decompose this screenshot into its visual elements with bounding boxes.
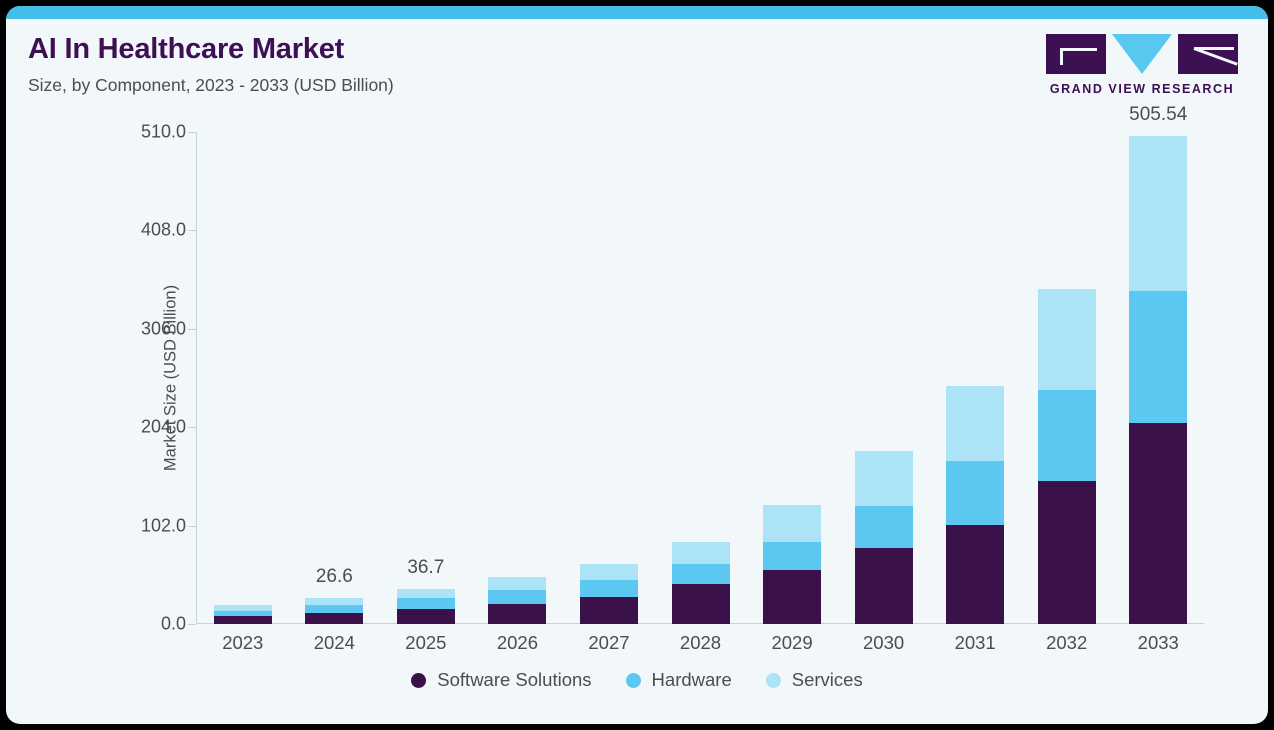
bar-slot-2030[interactable]: 2030 — [838, 132, 930, 624]
logo-wordmark: GRAND VIEW RESEARCH — [1046, 82, 1238, 96]
chart-frame: AI In Healthcare Market Size, by Compone… — [0, 0, 1274, 730]
bar-segment-hardware[interactable] — [305, 605, 363, 613]
logo-letter-r-icon — [1178, 34, 1238, 74]
y-axis-tick — [188, 329, 196, 330]
bar-slot-2024[interactable]: 26.62024 — [289, 132, 381, 624]
y-axis-tick-label: 102.0 — [141, 515, 186, 536]
y-axis-tick-label: 408.0 — [141, 220, 186, 241]
chart-card: AI In Healthcare Market Size, by Compone… — [6, 6, 1268, 724]
bar-segment-hardware[interactable] — [397, 598, 455, 609]
bar-segment-software[interactable] — [763, 570, 821, 625]
legend-swatch-icon — [626, 673, 641, 688]
x-axis-tick-label: 2031 — [955, 632, 996, 654]
accent-top-bar — [6, 6, 1268, 19]
bar-segment-hardware[interactable] — [1129, 291, 1187, 424]
bar-stack[interactable] — [397, 589, 455, 624]
bar-segment-software[interactable] — [397, 609, 455, 624]
chart-subtitle: Size, by Component, 2023 - 2033 (USD Bil… — [28, 75, 394, 96]
bar-segment-software[interactable] — [1038, 481, 1096, 624]
x-axis-tick-label: 2025 — [405, 632, 446, 654]
legend-label: Services — [792, 669, 863, 691]
bar-value-label: 26.6 — [316, 566, 353, 588]
y-axis-tick — [188, 230, 196, 231]
bar-stack[interactable] — [580, 564, 638, 624]
bar-segment-services[interactable] — [946, 386, 1004, 461]
y-axis-tick-label: 510.0 — [141, 122, 186, 143]
bar-segment-hardware[interactable] — [855, 506, 913, 547]
legend-label: Hardware — [652, 669, 732, 691]
x-axis-tick-label: 2029 — [771, 632, 812, 654]
bar-group: 202326.6202436.7202520262027202820292030… — [197, 132, 1204, 624]
bar-segment-software[interactable] — [672, 584, 730, 624]
bar-slot-2026[interactable]: 2026 — [472, 132, 564, 624]
bar-slot-2025[interactable]: 36.72025 — [380, 132, 472, 624]
bar-stack[interactable] — [305, 598, 363, 624]
x-axis-tick-label: 2027 — [588, 632, 629, 654]
bar-segment-services[interactable] — [580, 564, 638, 580]
y-axis-tick — [188, 624, 196, 625]
bar-segment-software[interactable] — [214, 616, 272, 624]
bar-slot-2023[interactable]: 2023 — [197, 132, 289, 624]
brand-logo: GRAND VIEW RESEARCH — [1046, 34, 1238, 96]
bar-segment-software[interactable] — [580, 597, 638, 624]
y-axis-tick-label: 204.0 — [141, 417, 186, 438]
legend-item[interactable]: Software Solutions — [411, 669, 591, 691]
bar-slot-2027[interactable]: 2027 — [563, 132, 655, 624]
bar-segment-services[interactable] — [855, 451, 913, 506]
bar-slot-2029[interactable]: 2029 — [746, 132, 838, 624]
y-axis-tick-label: 0.0 — [161, 614, 186, 635]
y-axis-tick-label: 306.0 — [141, 318, 186, 339]
bar-slot-2032[interactable]: 2032 — [1021, 132, 1113, 624]
page-title: AI In Healthcare Market — [28, 34, 394, 66]
bar-stack[interactable] — [488, 577, 546, 624]
bar-stack[interactable] — [1129, 136, 1187, 624]
bar-segment-hardware[interactable] — [672, 564, 730, 585]
bar-stack[interactable] — [855, 451, 913, 624]
bar-segment-services[interactable] — [672, 542, 730, 564]
bar-slot-2033[interactable]: 505.542033 — [1112, 132, 1204, 624]
x-axis-tick-label: 2026 — [497, 632, 538, 654]
legend-swatch-icon — [411, 673, 426, 688]
bar-segment-services[interactable] — [305, 598, 363, 605]
legend-item[interactable]: Services — [766, 669, 863, 691]
legend-swatch-icon — [766, 673, 781, 688]
bar-value-label: 505.54 — [1129, 104, 1187, 126]
bar-slot-2031[interactable]: 2031 — [929, 132, 1021, 624]
x-axis-tick-label: 2033 — [1138, 632, 1179, 654]
bar-segment-services[interactable] — [488, 577, 546, 590]
logo-letter-g-icon — [1046, 34, 1106, 74]
y-axis-title: Market Size (USD Billion) — [162, 285, 181, 471]
bar-segment-hardware[interactable] — [1038, 390, 1096, 481]
plot-area: Market Size (USD Billion) 0.0102.0204.03… — [196, 132, 1204, 624]
x-axis-tick-label: 2023 — [222, 632, 263, 654]
bar-segment-services[interactable] — [763, 505, 821, 542]
y-axis-tick — [188, 427, 196, 428]
logo-letter-v-icon — [1112, 34, 1172, 74]
bar-stack[interactable] — [672, 542, 730, 624]
bar-segment-services[interactable] — [1038, 289, 1096, 390]
logo-marks — [1046, 34, 1238, 74]
bar-segment-services[interactable] — [1129, 136, 1187, 290]
bar-stack[interactable] — [946, 386, 1004, 624]
bar-segment-software[interactable] — [946, 525, 1004, 624]
bar-segment-hardware[interactable] — [488, 590, 546, 604]
chart-header: AI In Healthcare Market Size, by Compone… — [28, 34, 394, 96]
x-axis-tick-label: 2032 — [1046, 632, 1087, 654]
bar-segment-software[interactable] — [855, 548, 913, 624]
bar-segment-software[interactable] — [488, 604, 546, 624]
y-axis-tick — [188, 526, 196, 527]
x-axis-tick-label: 2028 — [680, 632, 721, 654]
legend-item[interactable]: Hardware — [626, 669, 732, 691]
bar-segment-hardware[interactable] — [580, 580, 638, 597]
bar-segment-services[interactable] — [397, 589, 455, 599]
legend-label: Software Solutions — [437, 669, 591, 691]
bar-segment-software[interactable] — [305, 613, 363, 624]
bar-stack[interactable] — [763, 505, 821, 624]
bar-value-label: 36.7 — [407, 557, 444, 579]
bar-stack[interactable] — [214, 605, 272, 624]
x-axis-tick-label: 2024 — [314, 632, 355, 654]
chart-legend: Software SolutionsHardwareServices — [6, 669, 1268, 691]
bar-slot-2028[interactable]: 2028 — [655, 132, 747, 624]
bar-segment-hardware[interactable] — [763, 542, 821, 570]
bar-segment-hardware[interactable] — [946, 461, 1004, 525]
x-axis-tick-label: 2030 — [863, 632, 904, 654]
bar-segment-software[interactable] — [1129, 423, 1187, 624]
bar-stack[interactable] — [1038, 289, 1096, 624]
y-axis-tick — [188, 132, 196, 133]
